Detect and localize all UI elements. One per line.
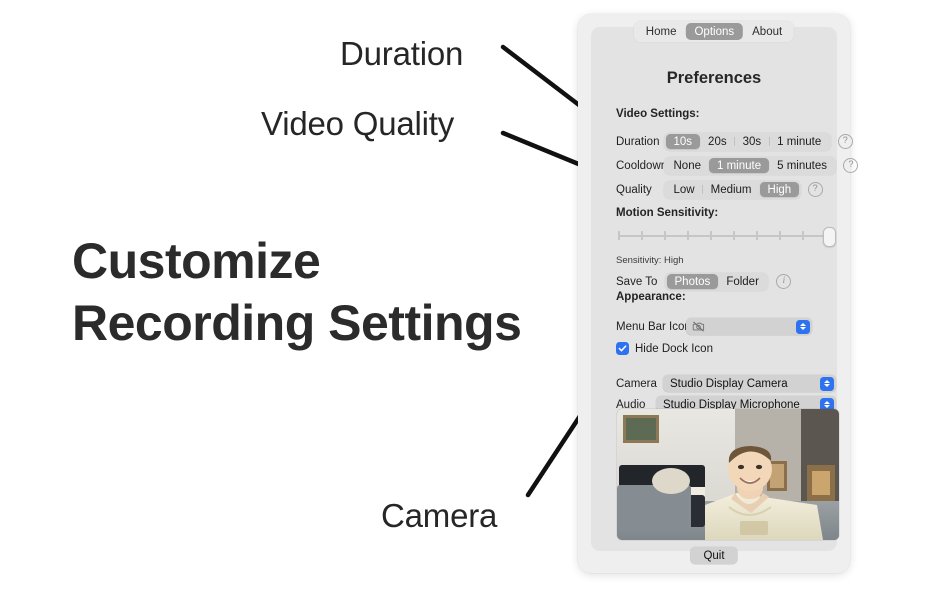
section-heading-appearance: Appearance:: [616, 291, 686, 303]
cooldown-option-none[interactable]: None: [666, 158, 710, 173]
camera-label: Camera: [616, 378, 663, 390]
slider-track: [618, 235, 824, 237]
quality-segmented-control[interactable]: Low Medium High: [664, 181, 801, 199]
duration-help-icon[interactable]: ?: [838, 134, 853, 149]
slider-tick: [802, 231, 804, 240]
camera-value: Studio Display Camera: [663, 378, 788, 390]
camera-dropdown[interactable]: Studio Display Camera: [663, 375, 836, 392]
section-heading-video-settings: Video Settings:: [616, 108, 700, 120]
save-to-row: Save To Photos Folder i: [616, 272, 791, 291]
slider-tick: [618, 231, 620, 240]
chevron-up-icon: [800, 323, 806, 326]
hide-dock-icon-label: Hide Dock Icon: [635, 343, 713, 355]
camera-preview-image: [617, 409, 839, 540]
duration-option-10s[interactable]: 10s: [666, 134, 701, 149]
motion-sensitivity-slider[interactable]: [616, 225, 836, 247]
menu-bar-icon-row: Menu Bar Icon: [616, 317, 812, 336]
preferences-panel: Home Options About Preferences Video Set…: [591, 27, 837, 551]
cooldown-option-1-minute[interactable]: 1 minute: [709, 158, 769, 173]
camera-stepper[interactable]: [820, 377, 834, 391]
chevron-up-icon: [824, 401, 830, 404]
headline-line-1: Customize: [72, 230, 552, 292]
slider-tick: [756, 231, 758, 240]
quality-row: Quality Low Medium High ?: [616, 180, 823, 199]
menu-bar-icon-label: Menu Bar Icon: [616, 321, 686, 333]
panel-title: Preferences: [591, 69, 837, 88]
hide-dock-icon-checkbox[interactable]: [616, 342, 629, 355]
section-heading-motion-sensitivity: Motion Sensitivity:: [616, 207, 718, 219]
slider-tick: [779, 231, 781, 240]
quality-help-icon[interactable]: ?: [808, 182, 823, 197]
quality-option-high[interactable]: High: [760, 182, 800, 197]
chevron-up-icon: [824, 380, 830, 383]
slider-thumb[interactable]: [823, 227, 836, 247]
slider-tick: [710, 231, 712, 240]
cooldown-help-icon[interactable]: ?: [843, 158, 858, 173]
save-to-option-folder[interactable]: Folder: [718, 274, 767, 289]
slider-tick: [664, 231, 666, 240]
tab-about[interactable]: About: [743, 23, 791, 40]
save-to-info-icon[interactable]: i: [776, 274, 791, 289]
tab-options[interactable]: Options: [685, 23, 743, 40]
headline-line-2: Recording Settings: [72, 292, 552, 354]
chevron-down-icon: [824, 405, 830, 408]
hide-dock-icon-row[interactable]: Hide Dock Icon: [616, 342, 713, 355]
chevron-down-icon: [800, 327, 806, 330]
quit-button[interactable]: Quit: [690, 547, 737, 564]
camera-row: Camera Studio Display Camera: [616, 374, 836, 393]
tab-home[interactable]: Home: [637, 23, 686, 40]
cooldown-option-5-minutes[interactable]: 5 minutes: [769, 158, 835, 173]
save-to-segmented-control[interactable]: Photos Folder: [665, 273, 768, 291]
quality-option-low[interactable]: Low: [666, 182, 703, 197]
chevron-down-icon: [824, 384, 830, 387]
slider-tick: [641, 231, 643, 240]
callout-label-video-quality: Video Quality: [261, 105, 454, 143]
duration-option-1-minute[interactable]: 1 minute: [769, 134, 829, 149]
cooldown-segmented-control[interactable]: None 1 minute 5 minutes: [664, 157, 836, 175]
callout-label-camera: Camera: [381, 497, 497, 535]
callout-label-duration: Duration: [340, 35, 463, 73]
quality-label: Quality: [616, 184, 664, 196]
preferences-window: Home Options About Preferences Video Set…: [578, 14, 850, 573]
page-title: Customize Recording Settings: [72, 230, 552, 354]
duration-row: Duration 10s 20s 30s 1 minute ?: [616, 132, 853, 151]
quality-option-medium[interactable]: Medium: [703, 182, 760, 197]
slider-tick: [733, 231, 735, 240]
cooldown-label: Cooldown: [616, 160, 664, 172]
duration-label: Duration: [616, 136, 664, 148]
menu-bar-icon-stepper[interactable]: [796, 320, 810, 334]
camera-preview: [617, 409, 839, 540]
duration-segmented-control[interactable]: 10s 20s 30s 1 minute: [664, 133, 831, 151]
duration-option-20s[interactable]: 20s: [700, 134, 735, 149]
tab-bar: Home Options About: [634, 21, 794, 42]
duration-option-30s[interactable]: 30s: [735, 134, 770, 149]
sensitivity-readout: Sensitivity: High: [616, 255, 684, 266]
cooldown-row: Cooldown None 1 minute 5 minutes ?: [616, 156, 858, 175]
camera-slash-icon: [692, 320, 705, 333]
save-to-option-photos[interactable]: Photos: [667, 274, 719, 289]
slider-tick: [687, 231, 689, 240]
save-to-label: Save To: [616, 276, 665, 288]
checkmark-icon: [618, 344, 627, 353]
menu-bar-icon-dropdown[interactable]: [686, 318, 812, 335]
